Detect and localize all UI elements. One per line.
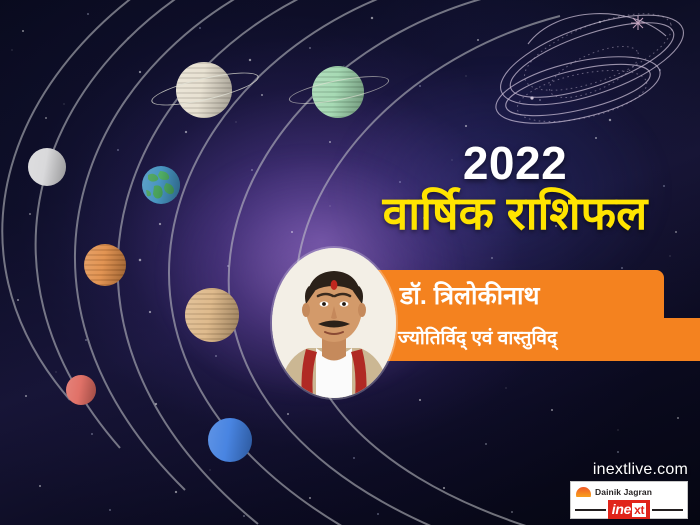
publisher-name: Dainik Jagran xyxy=(595,487,652,497)
planet-moon xyxy=(28,148,66,186)
headline-block: 2022 वार्षिक राशिफल xyxy=(350,140,680,240)
planet-shading xyxy=(84,244,126,286)
logo-rule-right xyxy=(652,509,683,511)
planet-shading xyxy=(185,288,239,342)
planet-pluto xyxy=(66,375,96,405)
planet-jupiter xyxy=(185,288,239,342)
brand-wordmark-main: ine xyxy=(612,501,631,517)
planet-shading xyxy=(66,375,96,405)
planet-earth xyxy=(142,166,180,204)
astrologer-name: डॉ. त्रिलोकीनाथ xyxy=(400,274,665,318)
planet-shading xyxy=(208,418,252,462)
avatar xyxy=(272,248,396,398)
planet-neptune xyxy=(208,418,252,462)
planet-shading xyxy=(142,166,180,204)
logo-top-row: Dainik Jagran xyxy=(575,484,683,499)
astrologer-credential: ज्योतिर्विद् एवं वास्तुविद् xyxy=(398,318,698,360)
page-title: वार्षिक राशिफल xyxy=(350,188,680,240)
sunrise-icon xyxy=(575,487,592,497)
logo-rule-left xyxy=(575,509,606,511)
website-label: inextlive.com xyxy=(593,461,688,479)
publisher-logo: Dainik Jagran inext xyxy=(570,481,688,519)
planet-mars xyxy=(84,244,126,286)
brand-wordmark: inext xyxy=(608,500,650,519)
wireframe-planet-icon xyxy=(470,0,700,146)
planet-shading xyxy=(28,148,66,186)
astrologer-portrait-illustration xyxy=(272,248,396,398)
brand-wordmark-accent: xt xyxy=(632,503,646,517)
logo-bottom-row: inext xyxy=(575,500,683,519)
year-label: 2022 xyxy=(350,140,680,186)
horoscope-poster: 2022 वार्षिक राशिफल डॉ. त्रिलोकीनाथ ज्यो… xyxy=(0,0,700,525)
